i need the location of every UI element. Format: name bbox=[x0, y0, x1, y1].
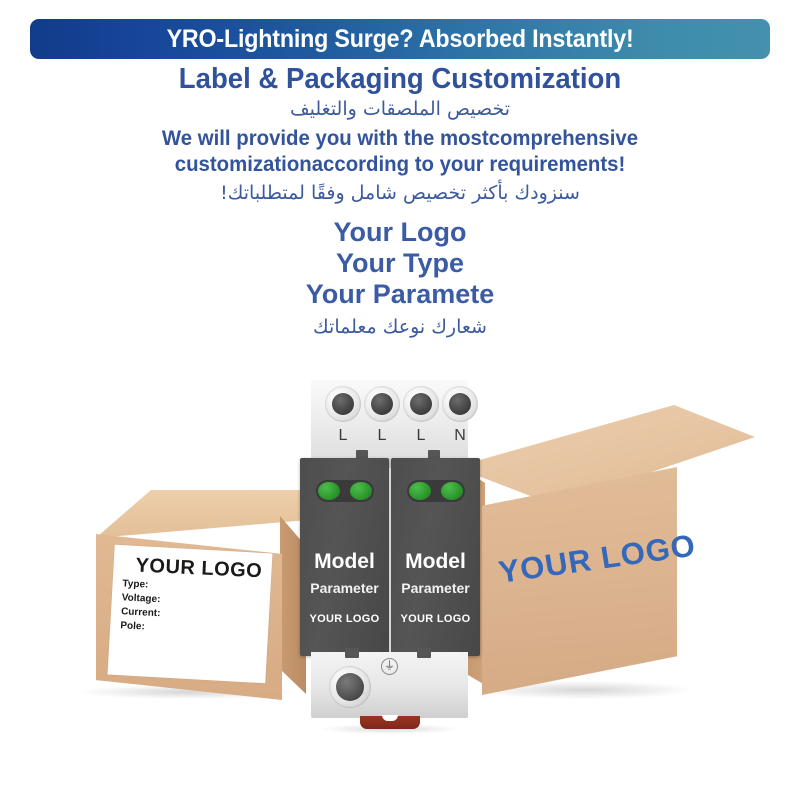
din-rail-clip bbox=[360, 716, 420, 729]
module-2-model-text: Model bbox=[391, 550, 480, 574]
module-1-logo-text: YOUR LOGO bbox=[300, 613, 389, 625]
carton-box-right: YOUR LOGO bbox=[455, 405, 755, 705]
screw-terminal-2 bbox=[364, 386, 400, 422]
terminal-label-row: L L L N bbox=[325, 427, 477, 447]
carton-left-product-label: YOUR LOGO Type: Voltage: Current: Pole: bbox=[107, 545, 272, 684]
customization-list: Your Logo Your Type Your Paramete شعارك … bbox=[0, 217, 800, 342]
promo-line-1: We will provide you with the mostcompreh… bbox=[12, 126, 788, 152]
terminal-label-2: L bbox=[364, 427, 400, 445]
terminal-label-1: L bbox=[325, 427, 361, 445]
base-notch-right bbox=[417, 648, 431, 658]
screw-terminal-4 bbox=[442, 386, 478, 422]
module-1-model-text: Model bbox=[300, 550, 389, 574]
module-2-parameter-text: Parameter bbox=[391, 580, 480, 596]
promo-line-ar: سنزودك بأكثر تخصيص شامل وفقًا لمتطلباتك! bbox=[0, 179, 800, 207]
promo-line-2: customizationaccording to your requireme… bbox=[12, 152, 788, 178]
screw-terminal-1 bbox=[325, 386, 361, 422]
device-module-row: Model Parameter YOUR LOGO Model Paramete… bbox=[300, 458, 480, 656]
status-led-1b bbox=[350, 482, 372, 500]
base-notch-left bbox=[345, 648, 359, 658]
module-1-parameter-text: Parameter bbox=[300, 580, 389, 596]
product-scene: YOUR LOGO YOUR LOGO Type: Voltage: Curre… bbox=[0, 370, 800, 800]
terminal-label-3: L bbox=[403, 427, 439, 445]
carton-box-left: YOUR LOGO Type: Voltage: Current: Pole: bbox=[75, 490, 305, 700]
page-title-en: Label & Packaging Customization bbox=[20, 62, 780, 96]
customization-item-type: Your Type bbox=[0, 248, 800, 279]
status-indicator-window-1 bbox=[316, 480, 374, 502]
device-module-1: Model Parameter YOUR LOGO bbox=[300, 458, 389, 656]
customization-list-ar: شعارك نوعك معلماتك bbox=[0, 312, 800, 342]
marketing-text-block: Label & Packaging Customization تخصيص ال… bbox=[0, 62, 800, 342]
surge-protector-device: L L L N Model Parameter YOUR LOGO bbox=[300, 380, 480, 740]
terminal-label-4: N bbox=[442, 427, 478, 445]
terminal-row bbox=[325, 386, 477, 428]
headline-banner: YRO-Lightning Surge? Absorbed Instantly! bbox=[30, 19, 770, 59]
page-title-ar: تخصيص الملصقات والتغليف bbox=[0, 96, 800, 122]
label-field-pole: Pole: bbox=[120, 619, 160, 635]
module-2-logo-text: YOUR LOGO bbox=[391, 613, 480, 625]
device-top-housing: L L L N bbox=[311, 380, 468, 468]
banner-text: YRO-Lightning Surge? Absorbed Instantly! bbox=[166, 25, 633, 54]
label-field-list: Type: Voltage: Current: Pole: bbox=[120, 577, 162, 635]
customization-item-logo: Your Logo bbox=[0, 217, 800, 248]
status-led-1a bbox=[318, 482, 340, 500]
base-screw-terminal bbox=[329, 666, 371, 708]
status-led-2a bbox=[409, 482, 431, 500]
carton-left-top-face bbox=[75, 490, 305, 538]
status-indicator-window-2 bbox=[407, 480, 465, 502]
earth-ground-icon: ⏚ bbox=[381, 658, 398, 675]
status-led-2b bbox=[441, 482, 463, 500]
customization-item-parameter: Your Paramete bbox=[0, 279, 800, 310]
device-module-2: Model Parameter YOUR LOGO bbox=[391, 458, 480, 656]
screw-terminal-3 bbox=[403, 386, 439, 422]
device-bottom-housing: ⏚ bbox=[311, 652, 468, 718]
